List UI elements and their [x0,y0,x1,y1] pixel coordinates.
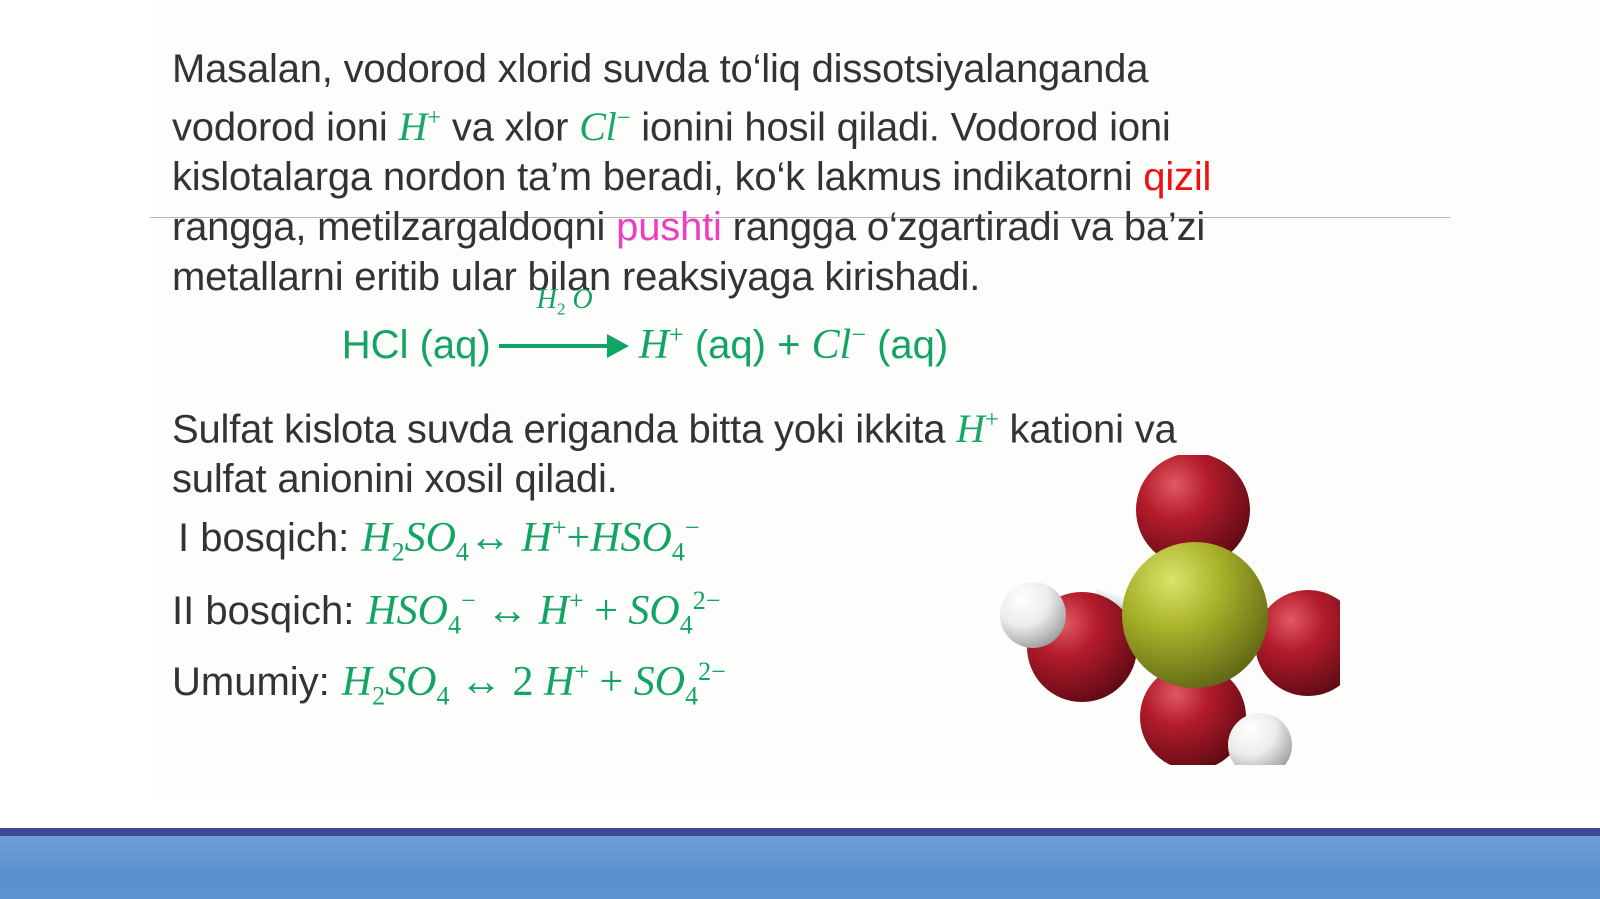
arrow-head [607,334,629,358]
formula-symbol: H [544,659,574,705]
formula-symbol: H [342,659,372,705]
highlight-word-red: qizil [1143,155,1211,199]
reaction-product-chloride: Cl− [812,322,866,368]
oxygen-right-atom [1255,590,1340,696]
label-symbol: H [537,284,557,315]
stoichiometric-coefficient: 2 [513,659,545,705]
equation-step-1: I bosqich:H2SO4↔ H++HSO4− [178,513,700,567]
formula-superscript: + [552,513,567,542]
formula-symbol: SO [628,588,679,634]
paragraph-text: Sulfat kislota suvda eriganda bitta yoki… [172,407,956,451]
sulfur-center-atom [1122,542,1268,688]
paragraph-line-4: rangga, metilzargaldoqni pushti rangga o… [172,202,1211,252]
hydrogen-upper-left-atom [1000,582,1066,648]
formula-symbol: H [521,515,551,561]
formula-superscript: 2− [693,586,721,615]
paragraph-line-3: kislotalarga nordon ta’m beradi, ko‘k la… [172,152,1211,202]
equation-label: Umumiy: [172,660,330,704]
intro-paragraph: Masalan, vodorod xlorid suvda to‘liq dis… [172,44,1211,302]
equilibrium-arrow: ↔ [469,515,511,561]
formula-superscript: + [985,407,999,434]
formula-symbol: H [361,515,391,561]
equilibrium-arrow: ↔ [460,659,502,705]
paragraph-text: vodorod ioni [172,105,398,149]
paragraph-text: rangga, metilzargaldoqni [172,205,616,249]
equation-label: II bosqich: [172,589,354,633]
formula-subscript: 4 [448,610,461,639]
equation-step-2: II bosqich:HSO4− ↔ H+ + SO42− [172,586,720,640]
formula-subscript: 4 [685,681,698,710]
formula-superscript: − [685,513,700,542]
formula-superscript: 2− [698,657,726,686]
highlight-word-pink: pushti [616,205,722,249]
formula-hydrogen-ion: H+ [956,406,998,451]
equation-overall: Umumiy:H2SO4 ↔ 2 H+ + SO42− [172,657,726,711]
paragraph-text: kationi va [999,407,1177,451]
reaction-product-hydrogen: H+ [639,322,684,368]
formula-symbol: Cl [579,104,616,149]
equation-expression: H2SO4 ↔ 2 H+ + SO42− [342,659,726,705]
formula-symbol: HSO [590,515,672,561]
paragraph-line-1: Sulfat kislota suvda eriganda bitta yoki… [172,396,1177,454]
hcl-dissociation-equation: HCl (aq) H2 O H+ (aq) + Cl− (aq) [0,318,1290,369]
paragraph-text: ionini hosil qiladi. Vodorod ioni [630,105,1170,149]
formula-symbol: Cl [812,322,852,368]
formula-symbol: SO [634,659,685,705]
formula-subscript: 4 [672,537,685,566]
label-subscript: 2 [557,300,566,319]
sulfuric-acid-molecule-image [950,455,1340,765]
paragraph-line-5: metallarni eritib ular bilan reaksiyaga … [172,252,1211,302]
plus-sign: + [589,659,634,705]
equation-label: I bosqich: [178,516,349,560]
product-hydrogen-state: (aq) [684,323,766,367]
paragraph-text: sulfat anionini xosil qiladi. [172,457,618,501]
formula-superscript: − [461,586,476,615]
equilibrium-arrow: ↔ [486,588,528,634]
reaction-arrow: H2 O [491,318,639,364]
paragraph-text: Masalan, vodorod xlorid suvda to‘liq dis… [172,47,1148,91]
paragraph-line-2: vodorod ioni H+ va xlor Cl− ionini hosil… [172,94,1211,152]
formula-hydrogen-ion: H+ [398,104,440,149]
footer-blue-band [0,836,1600,899]
reaction-reactant: HCl (aq) [342,323,491,367]
formula-symbol: H [639,322,669,368]
slide-canvas: Masalan, vodorod xlorid suvda to‘liq dis… [0,0,1600,899]
label-symbol-o: O [566,284,593,315]
paragraph-text: rangga o‘zgartiradi va ba’zi [722,205,1205,249]
formula-symbol: SO [405,515,456,561]
formula-subscript: 2 [392,537,405,566]
paragraph-line-1: Masalan, vodorod xlorid suvda to‘liq dis… [172,44,1211,94]
formula-symbol: H [539,588,569,634]
formula-symbol: H [398,104,427,149]
formula-chloride-ion: Cl− [579,104,630,149]
arrow-condition-label: H2 O [491,284,639,320]
paragraph-text: kislotalarga nordon ta’m beradi, ko‘k la… [172,155,1143,199]
formula-subscript: 4 [436,681,449,710]
equation-expression: H2SO4↔ H++HSO4− [361,515,699,561]
equation-expression: HSO4− ↔ H+ + SO42− [366,588,720,634]
plus-sign: + [566,515,590,561]
footer-navy-stripe [0,828,1600,836]
formula-superscript: − [617,105,631,132]
formula-superscript: + [669,320,684,349]
formula-superscript: − [851,320,866,349]
formula-symbol: SO [385,659,436,705]
formula-symbol: H [956,406,985,451]
formula-symbol: HSO [366,588,448,634]
formula-subscript: 4 [456,537,469,566]
formula-superscript: + [574,657,589,686]
formula-subscript: 2 [372,681,385,710]
formula-superscript: + [427,105,441,132]
reaction-plus: + [766,323,812,367]
formula-subscript: 4 [680,610,693,639]
formula-superscript: + [569,586,584,615]
product-chloride-state: (aq) [866,323,948,367]
paragraph-text: va xlor [441,105,579,149]
plus-sign: + [584,588,629,634]
arrow-shaft [499,344,611,348]
